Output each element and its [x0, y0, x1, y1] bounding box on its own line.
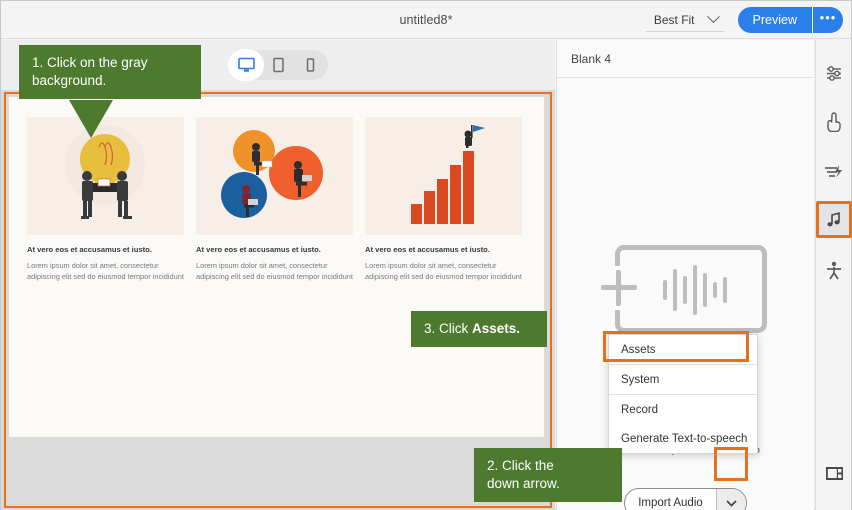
slide-content[interactable]: At vero eos et accusamus et iusto. Lorem… [9, 97, 544, 437]
rail-item-accessibility[interactable] [816, 252, 852, 289]
device-mobile-button[interactable] [295, 52, 325, 78]
rail-bottom-group [816, 455, 852, 492]
rail-item-panel-layout[interactable] [816, 455, 852, 492]
chevron-down-icon [726, 500, 737, 507]
topbar-actions: Best Fit Preview ••• [646, 1, 843, 39]
animation-motion-icon [824, 163, 844, 179]
rail-item-animation[interactable] [816, 152, 852, 189]
callout-1-line2: background. [32, 72, 188, 90]
callout-1-line1: 1. Click on the gray [32, 54, 188, 72]
card-heading: At vero eos et accusamus et iusto. [365, 245, 522, 255]
card-body: Lorem ipsum dolor sit amet, consectetur … [365, 260, 522, 283]
import-audio-button[interactable]: Import Audio [624, 488, 747, 510]
add-audio-plus-icon-vertical [616, 270, 621, 306]
menu-item-record[interactable]: Record [609, 395, 757, 424]
right-icon-rail [815, 40, 851, 510]
mobile-icon [305, 57, 316, 73]
callout-2-line2: down arrow. [487, 475, 609, 493]
import-arrow-highlight-outline [714, 447, 748, 481]
audio-music-note-icon [825, 211, 843, 229]
device-desktop-button[interactable] [231, 52, 261, 78]
card-heading: At vero eos et accusamus et iusto. [27, 245, 184, 255]
bar-chart-illustration [365, 117, 522, 235]
callout-step-3: 3. Click Assets. [411, 311, 547, 347]
rail-item-interaction[interactable] [816, 103, 852, 140]
callout-3-bold: Assets. [472, 321, 520, 336]
card-body: Lorem ipsum dolor sit amet, consectetur … [27, 260, 184, 283]
zoom-fit-select[interactable]: Best Fit [646, 9, 724, 32]
content-card[interactable]: At vero eos et accusamus et iusto. Lorem… [196, 117, 353, 283]
callout-3-prefix: 3. Click [424, 321, 472, 336]
rail-item-audio[interactable] [816, 201, 852, 238]
panel-header: Blank 4 [557, 40, 814, 78]
callout-step-2: 2. Click the down arrow. [474, 448, 622, 502]
interaction-hand-icon [825, 112, 843, 132]
app-window: untitled8* Best Fit Preview ••• [0, 0, 852, 510]
card-illustration [196, 117, 353, 235]
chevron-down-icon [707, 10, 720, 23]
import-audio-dropdown-arrow[interactable] [716, 488, 746, 510]
import-audio-label: Import Audio [625, 497, 716, 509]
panel-layout-icon [825, 466, 844, 481]
callout-2-line1: 2. Click the [487, 457, 609, 475]
accessibility-person-icon [825, 261, 843, 281]
callout-step-1: 1. Click on the gray background. [19, 45, 201, 99]
card-illustration [365, 117, 522, 235]
preview-button-group: Preview ••• [738, 7, 843, 33]
card-heading: At vero eos et accusamus et iusto. [196, 245, 353, 255]
preview-button[interactable]: Preview [738, 7, 813, 33]
device-toggle-group [228, 50, 328, 80]
callout-1-tail [69, 100, 113, 138]
rail-item-properties[interactable] [816, 54, 852, 91]
card-body: Lorem ipsum dolor sit amet, consectetur … [196, 260, 353, 283]
menu-item-system[interactable]: System [609, 365, 757, 394]
content-card[interactable]: At vero eos et accusamus et iusto. Lorem… [27, 117, 184, 283]
desktop-icon [238, 57, 255, 73]
people-circles-illustration [196, 117, 353, 235]
tablet-icon [272, 57, 285, 73]
properties-sliders-icon [825, 64, 843, 82]
device-tablet-button[interactable] [263, 52, 293, 78]
zoom-fit-label: Best Fit [654, 13, 695, 27]
canvas-area[interactable]: At vero eos et accusamus et iusto. Lorem… [1, 90, 555, 510]
waveform-icon [663, 262, 727, 318]
assets-highlight-outline [603, 331, 749, 362]
top-bar: untitled8* Best Fit Preview ••• [1, 1, 851, 39]
more-options-button[interactable]: ••• [813, 7, 843, 33]
content-card[interactable]: At vero eos et accusamus et iusto. Lorem… [365, 117, 522, 283]
